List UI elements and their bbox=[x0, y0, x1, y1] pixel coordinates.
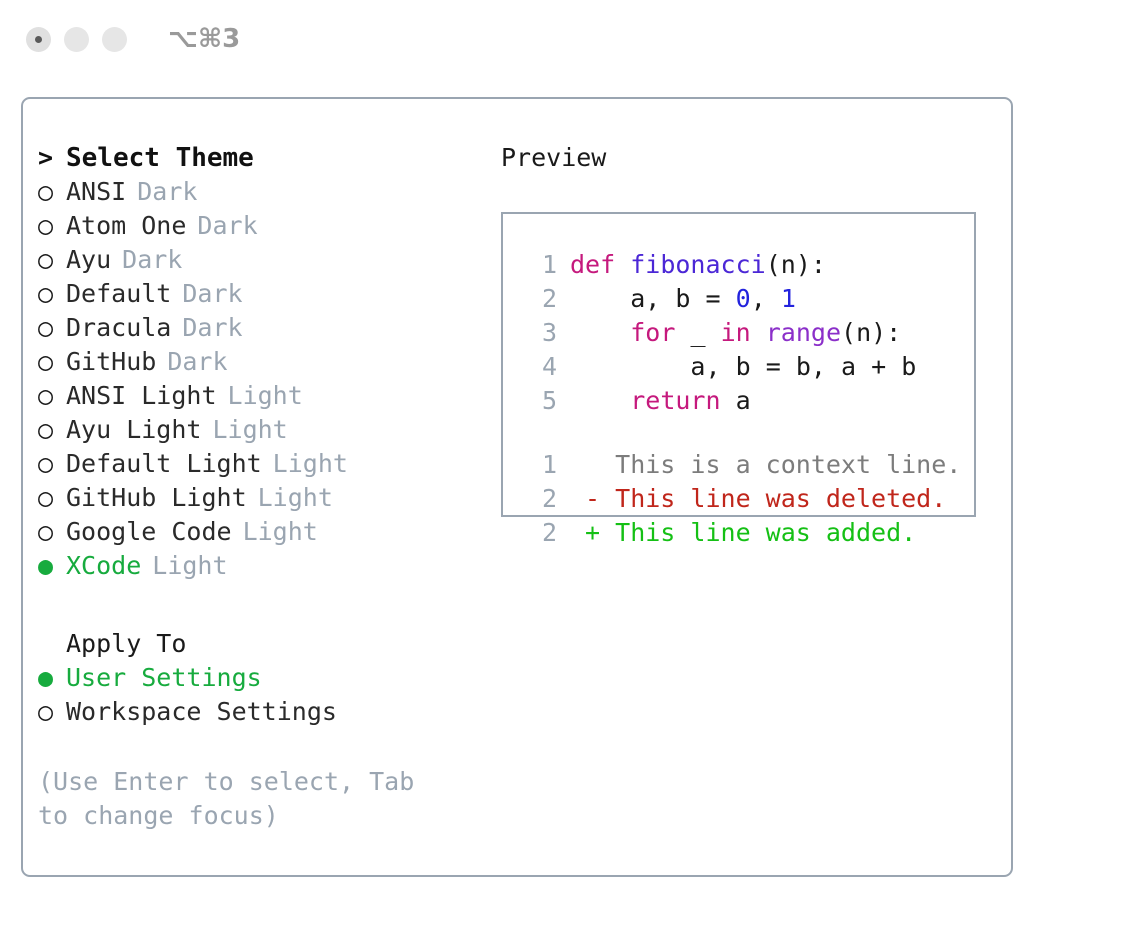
code-line: 4 a, b = b, a + b bbox=[521, 352, 974, 386]
theme-option-label: XCode bbox=[66, 551, 141, 580]
radio-empty-icon: ○ bbox=[38, 277, 66, 311]
theme-variant-badge: Light bbox=[212, 415, 287, 444]
line-number: 1 bbox=[521, 450, 570, 479]
theme-variant-badge: Dark bbox=[182, 313, 242, 342]
code-text: def fibonacci(n): bbox=[570, 250, 826, 279]
theme-picker-column: > Select Theme ○ANSIDark○Atom OneDark○Ay… bbox=[38, 141, 498, 833]
radio-selected-icon: ● bbox=[38, 549, 66, 583]
line-number: 4 bbox=[521, 352, 570, 381]
apply-to-heading: ○ Apply To bbox=[38, 627, 498, 661]
diff-text: This is a context line. bbox=[570, 450, 961, 479]
theme-list: ○ANSIDark○Atom OneDark○AyuDark○DefaultDa… bbox=[38, 175, 498, 583]
theme-option-default[interactable]: ○DefaultDark bbox=[38, 277, 498, 311]
apply-to-option-user-settings[interactable]: ●User Settings bbox=[38, 661, 498, 695]
theme-option-ayu[interactable]: ○AyuDark bbox=[38, 243, 498, 277]
theme-option-ansi-light[interactable]: ○ANSI LightLight bbox=[38, 379, 498, 413]
apply-to-marker-placeholder: ○ bbox=[38, 627, 66, 661]
theme-option-label: Dracula bbox=[66, 313, 171, 342]
main-panel: > Select Theme ○ANSIDark○Atom OneDark○Ay… bbox=[21, 97, 1013, 877]
apply-to-option-label: User Settings bbox=[66, 663, 262, 692]
radio-empty-icon: ○ bbox=[38, 413, 66, 447]
apply-to-option-label: Workspace Settings bbox=[66, 697, 337, 726]
radio-empty-icon: ○ bbox=[38, 175, 66, 209]
theme-variant-badge: Dark bbox=[122, 245, 182, 274]
theme-variant-badge: Dark bbox=[197, 211, 257, 240]
diff-text: - This line was deleted. bbox=[570, 484, 946, 513]
theme-option-xcode[interactable]: ●XCodeLight bbox=[38, 549, 498, 583]
line-number: 5 bbox=[521, 386, 570, 415]
apply-to-option-workspace-settings[interactable]: ○Workspace Settings bbox=[38, 695, 498, 729]
theme-option-label: GitHub bbox=[66, 347, 156, 376]
code-sample: 1def fibonacci(n):2 a, b = 0, 13 for _ i… bbox=[521, 250, 974, 420]
window-dot-inner bbox=[35, 36, 42, 43]
theme-option-atom-one[interactable]: ○Atom OneDark bbox=[38, 209, 498, 243]
select-theme-heading-label: Select Theme bbox=[66, 143, 254, 173]
theme-option-default-light[interactable]: ○Default LightLight bbox=[38, 447, 498, 481]
hint-spacer bbox=[38, 729, 498, 765]
code-text: a, b = b, a + b bbox=[570, 352, 916, 381]
theme-option-ansi[interactable]: ○ANSIDark bbox=[38, 175, 498, 209]
radio-empty-icon: ○ bbox=[38, 243, 66, 277]
line-number: 3 bbox=[521, 318, 570, 347]
theme-option-label: GitHub Light bbox=[66, 483, 247, 512]
preview-column: Preview 1def fibonacci(n):2 a, b = 0, 13… bbox=[501, 141, 991, 517]
preview-title: Preview bbox=[501, 141, 991, 175]
radio-selected-icon: ● bbox=[38, 661, 66, 695]
theme-variant-badge: Light bbox=[273, 449, 348, 478]
code-text: return a bbox=[570, 386, 751, 415]
radio-empty-icon: ○ bbox=[38, 345, 66, 379]
section-spacer bbox=[38, 583, 498, 627]
select-theme-heading: > Select Theme bbox=[38, 141, 498, 175]
radio-empty-icon: ○ bbox=[38, 311, 66, 345]
line-number: 2 bbox=[521, 284, 570, 313]
apply-to-list: ●User Settings○Workspace Settings bbox=[38, 661, 498, 729]
theme-option-label: Ayu bbox=[66, 245, 111, 274]
window-dot-active[interactable] bbox=[26, 27, 51, 52]
preview-box: 1def fibonacci(n):2 a, b = 0, 13 for _ i… bbox=[501, 212, 976, 517]
title-bar: ⌥⌘3 bbox=[0, 0, 1140, 78]
diff-line-deleted: 2 - This line was deleted. bbox=[521, 484, 974, 518]
line-number: 2 bbox=[521, 484, 570, 513]
window-controls bbox=[26, 27, 127, 52]
theme-variant-badge: Dark bbox=[137, 177, 197, 206]
radio-empty-icon: ○ bbox=[38, 515, 66, 549]
theme-variant-badge: Light bbox=[152, 551, 227, 580]
theme-variant-badge: Light bbox=[243, 517, 318, 546]
theme-option-label: Default bbox=[66, 279, 171, 308]
radio-empty-icon: ○ bbox=[38, 379, 66, 413]
code-line: 2 a, b = 0, 1 bbox=[521, 284, 974, 318]
diff-spacer bbox=[521, 420, 974, 450]
diff-text: + This line was added. bbox=[570, 518, 916, 547]
theme-option-dracula[interactable]: ○DraculaDark bbox=[38, 311, 498, 345]
keyboard-shortcut-label: ⌥⌘3 bbox=[168, 24, 240, 54]
diff-sample: 1 This is a context line.2 - This line w… bbox=[521, 450, 974, 552]
apply-to-title: Apply To bbox=[66, 629, 186, 658]
code-line: 1def fibonacci(n): bbox=[521, 250, 974, 284]
radio-empty-icon: ○ bbox=[38, 695, 66, 729]
code-text: for _ in range(n): bbox=[570, 318, 901, 347]
theme-option-label: Google Code bbox=[66, 517, 232, 546]
radio-empty-icon: ○ bbox=[38, 481, 66, 515]
theme-variant-badge: Dark bbox=[167, 347, 227, 376]
line-number: 1 bbox=[521, 250, 570, 279]
code-line: 5 return a bbox=[521, 386, 974, 420]
code-text: a, b = 0, 1 bbox=[570, 284, 796, 313]
theme-option-github[interactable]: ○GitHubDark bbox=[38, 345, 498, 379]
theme-variant-badge: Light bbox=[258, 483, 333, 512]
app-window: ⌥⌘3 > Select Theme ○ANSIDark○Atom OneDar… bbox=[0, 0, 1140, 934]
theme-option-label: Ayu Light bbox=[66, 415, 201, 444]
radio-empty-icon: ○ bbox=[38, 209, 66, 243]
theme-variant-badge: Light bbox=[228, 381, 303, 410]
code-line: 3 for _ in range(n): bbox=[521, 318, 974, 352]
prompt-caret-icon: > bbox=[38, 141, 66, 175]
radio-empty-icon: ○ bbox=[38, 447, 66, 481]
theme-option-label: ANSI bbox=[66, 177, 126, 206]
window-dot-second[interactable] bbox=[64, 27, 89, 52]
diff-line-added: 2 + This line was added. bbox=[521, 518, 974, 552]
theme-option-label: ANSI Light bbox=[66, 381, 217, 410]
window-dot-third[interactable] bbox=[102, 27, 127, 52]
theme-option-ayu-light[interactable]: ○Ayu LightLight bbox=[38, 413, 498, 447]
theme-variant-badge: Dark bbox=[182, 279, 242, 308]
keyboard-hint-text: (Use Enter to select, Tab to change focu… bbox=[38, 765, 448, 833]
theme-option-google-code[interactable]: ○Google CodeLight bbox=[38, 515, 498, 549]
theme-option-label: Default Light bbox=[66, 449, 262, 478]
theme-option-label: Atom One bbox=[66, 211, 186, 240]
line-number: 2 bbox=[521, 518, 570, 547]
theme-option-github-light[interactable]: ○GitHub LightLight bbox=[38, 481, 498, 515]
diff-line-context: 1 This is a context line. bbox=[521, 450, 974, 484]
